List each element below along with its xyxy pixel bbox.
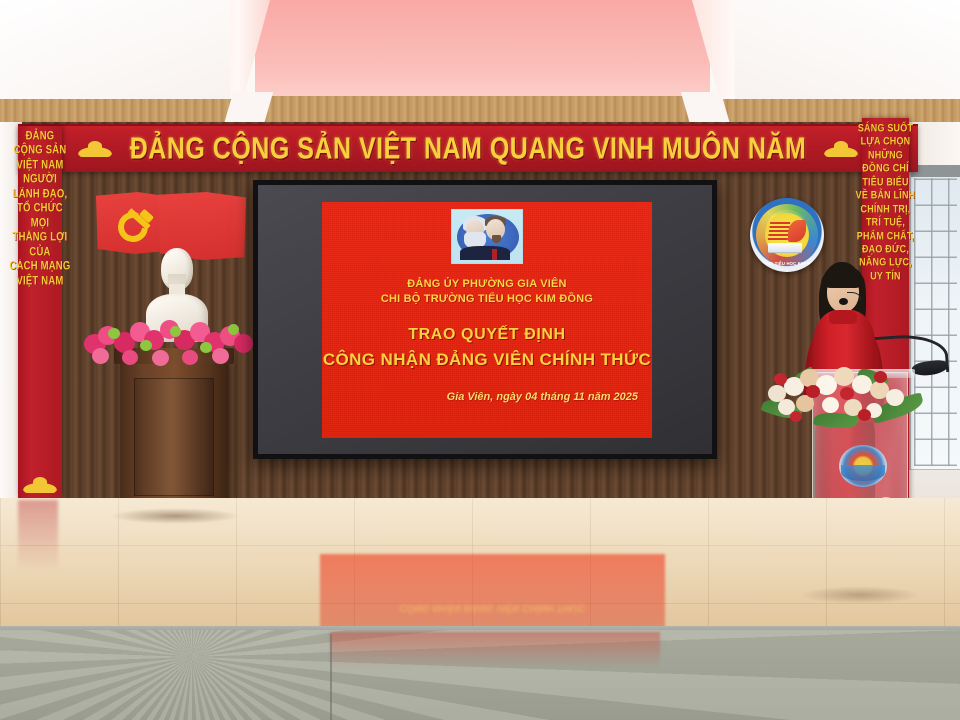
banner-left-line: MỌI — [31, 218, 50, 230]
banner-right-line: ĐỒNG CHÍ — [862, 163, 909, 175]
banner-left-line: CÁCH MẠNG — [10, 261, 71, 273]
lotus-icon — [23, 477, 57, 493]
school-emblem: TRƯỜNG TIỂU HỌC KIM ĐỒNG — [750, 198, 824, 272]
top-slogan-text: ĐẢNG CỘNG SẢN VIỆT NAM QUANG VINH MUÔN N… — [130, 131, 807, 166]
banner-right-line: ĐẠO ĐỨC, — [862, 244, 909, 256]
banner-left-line: VIỆT NAM — [17, 275, 64, 287]
slide-headline-block: TRAO QUYẾT ĐỊNH CÔNG NHẬN ĐẢNG VIÊN CHÍN… — [323, 323, 651, 373]
led-screen-panel: ĐẢNG ỦY PHƯỜNG GIA VIÊN CHI BỘ TRƯỜNG TI… — [258, 185, 712, 454]
banner-left-line: TỔ CHỨC — [17, 203, 63, 215]
banner-right-line: LỰA CHỌN — [861, 136, 911, 148]
screen-reflection-text: CÔNG NHẬN ĐẢNG VIÊN CHÍNH THỨC — [320, 602, 665, 613]
podium-flower-arrangement — [762, 355, 932, 445]
slide-org-line-1: ĐẢNG ỦY PHƯỜNG GIA VIÊN — [381, 277, 593, 293]
podium-shadow — [800, 586, 920, 604]
lotus-icon — [78, 141, 112, 157]
pedestal-shadow — [110, 508, 240, 524]
banner-right-line: NHỮNG — [868, 150, 903, 162]
slide-organisation-block: ĐẢNG ỦY PHƯỜNG GIA VIÊN CHI BỘ TRƯỜNG TI… — [381, 277, 593, 309]
left-slogan-banner: ĐẢNG CỘNG SẢN VIỆT NAM NGƯỜI LÃNH ĐẠO, T… — [18, 126, 62, 498]
banner-right-line: CHÍNH TRỊ, — [861, 203, 911, 215]
led-screen[interactable]: ĐẢNG ỦY PHƯỜNG GIA VIÊN CHI BỘ TRƯỜNG TI… — [253, 180, 717, 459]
slide-date-line: Gia Viên, ngày 04 tháng 11 năm 2025 — [447, 391, 638, 403]
slide-org-line-2: CHI BỘ TRƯỜNG TIỂU HỌC KIM ĐỒNG — [381, 292, 593, 308]
banner-reflection — [18, 500, 58, 570]
bust-pedestal — [120, 358, 228, 518]
slide-headline-1: TRAO QUYẾT ĐỊNH — [323, 323, 651, 347]
lotus-icon — [824, 141, 858, 157]
granite-reflection — [330, 632, 660, 668]
banner-left-line: CỦA — [29, 247, 50, 259]
marx-lenin-portrait-icon — [451, 209, 523, 264]
banner-right-line: PHẨM CHẤT, — [857, 230, 915, 242]
banner-right-line: TRÍ TUỆ, — [866, 217, 905, 229]
banner-left-line: ĐẢNG — [26, 131, 55, 143]
presentation-slide: ĐẢNG ỦY PHƯỜNG GIA VIÊN CHI BỘ TRƯỜNG TI… — [322, 202, 652, 438]
granite-seam — [330, 634, 332, 720]
banner-left-line: VIỆT NAM — [17, 160, 64, 172]
top-slogan-banner: ĐẢNG CỘNG SẢN VIỆT NAM QUANG VINH MUÔN N… — [18, 124, 918, 172]
banner-left-line: CỘNG SẢN — [14, 145, 67, 157]
banner-right-line: TIÊU BIỂU — [862, 177, 908, 189]
bust-flower-arrangement — [82, 318, 254, 370]
hammer-sickle-icon — [116, 210, 156, 244]
banner-left-line: THẮNG LỢI — [13, 232, 68, 244]
banner-right-line: SÁNG SUỐT — [858, 123, 913, 135]
slide-headline-2: CÔNG NHẬN ĐẢNG VIÊN CHÍNH THỨC — [323, 347, 651, 373]
banner-left-line: NGƯỜI — [23, 174, 57, 186]
ceiling-pink-panel — [255, 0, 710, 108]
banner-right-line: VỀ BẢN LĨNH — [856, 190, 916, 202]
photo-scene: ĐẢNG CỘNG SẢN VIỆT NAM QUANG VINH MUÔN N… — [0, 0, 960, 720]
banner-left-line: LÃNH ĐẠO, — [13, 189, 68, 201]
